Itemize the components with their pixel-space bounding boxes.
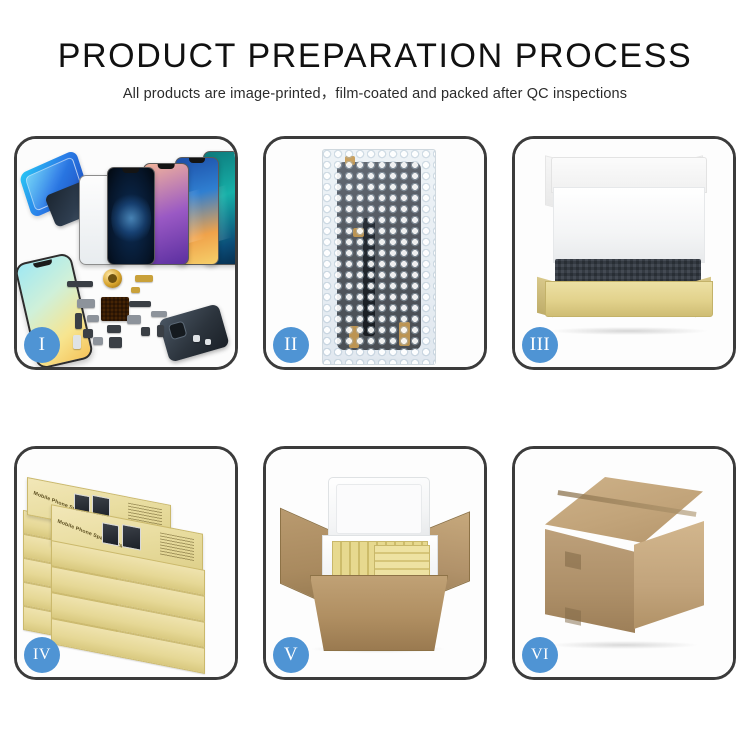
step-badge-4: IV [24, 637, 60, 673]
carton-body-icon [310, 575, 448, 651]
header: PRODUCT PREPARATION PROCESS All products… [0, 36, 750, 103]
white-foam-lining-icon [553, 187, 705, 263]
page-subtitle: All products are image-printed，film-coat… [0, 85, 750, 103]
process-step-card-6: VI [512, 446, 736, 680]
process-step-card-2: II [263, 136, 487, 370]
process-step-card-3: III [512, 136, 736, 370]
process-step-card-4: Mobile Phone Spare Parts Mobile Phone Sp… [14, 446, 238, 680]
styrofoam-lid-icon [328, 477, 430, 541]
carton-tape-bottom-icon [565, 607, 581, 625]
step-badge-1: I [24, 327, 60, 363]
process-step-card-5: V [263, 446, 487, 680]
box-stack-icon: Mobile Phone Spare Parts Mobile Phone Sp… [21, 467, 233, 663]
circuit-chip-icon [101, 297, 129, 321]
process-step-card-1: I [14, 136, 238, 370]
step-badge-3: III [522, 327, 558, 363]
product-preparation-process-infographic: PRODUCT PREPARATION PROCESS All products… [0, 0, 750, 750]
step-badge-2: II [273, 327, 309, 363]
speaker-coil-icon [103, 269, 122, 288]
process-steps-grid: I II [14, 136, 736, 680]
bubble-wrap-bag-icon [322, 149, 436, 365]
kraft-box-front-icon [545, 281, 713, 317]
carton-tape-top-icon [565, 551, 581, 569]
step-badge-6: VI [522, 637, 558, 673]
phone-lineup-icon [79, 157, 235, 265]
page-title: PRODUCT PREPARATION PROCESS [0, 36, 750, 76]
step-badge-5: V [273, 637, 309, 673]
